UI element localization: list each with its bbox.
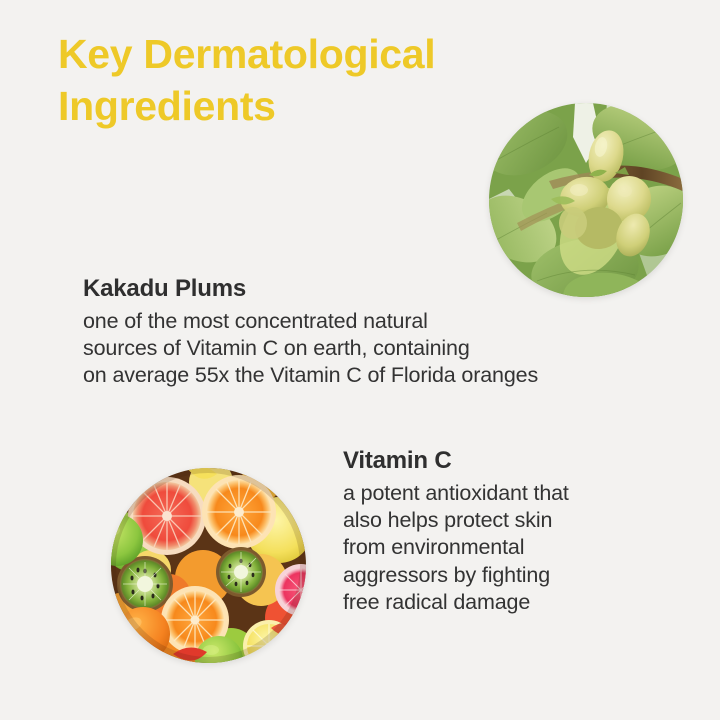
citrus-fruit-photo — [111, 468, 306, 663]
kakadu-plum-tree-photo — [489, 103, 683, 297]
kiwi-slice-right — [216, 547, 266, 597]
ingredient-description-vitamin-c: a potent antioxidant that also helps pro… — [343, 480, 673, 616]
kakadu-plum-illustration — [489, 103, 683, 297]
citrus-fruit-illustration — [111, 468, 306, 663]
ingredient-heading-kakadu-plums: Kakadu Plums — [83, 274, 246, 304]
page-title: Key Dermatological Ingredients — [58, 28, 528, 132]
ingredient-heading-vitamin-c: Vitamin C — [343, 446, 451, 476]
infographic-page: Key Dermatological Ingredients — [0, 0, 720, 720]
ingredient-description-kakadu-plums: one of the most concentrated natural sou… — [83, 308, 653, 390]
